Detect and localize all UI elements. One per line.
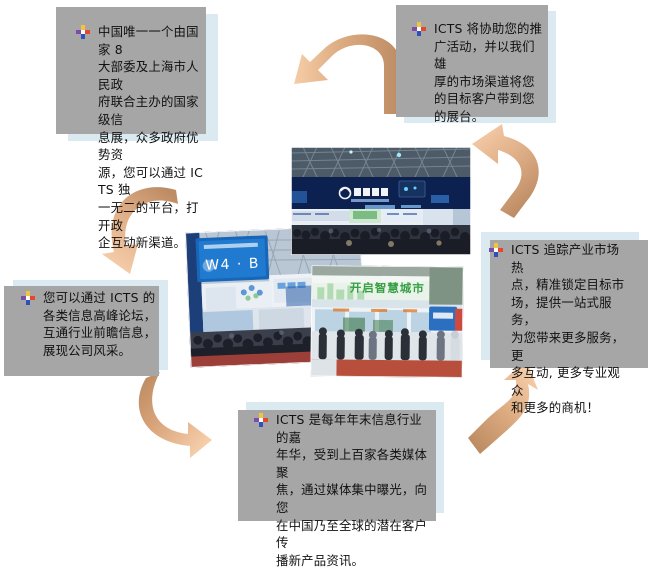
callout-text: 您可以通过 ICTS 的 各类信息高峰论坛， 互通行业前瞻信息， 展现公司风采。	[43, 289, 158, 359]
curved-arrow-icon-right-upper	[462, 118, 574, 236]
callout-text: 中国唯一一个由国家 8 大部委及上海市人民政 府联合主办的国家级信 息展，众多政…	[98, 23, 208, 252]
four-color-pinwheel-icon	[254, 413, 268, 427]
callout-text: ICTS 追踪产业市场热 点，精准锁定目标市 场，提供一站式服务， 为您带来更多…	[511, 241, 629, 417]
callout-text: ICTS 是每年年末信息行业的嘉 年华，受到上百家各类媒体聚 焦，通过媒体集中曝…	[276, 411, 434, 569]
exhibition-photo-smart-city: 开启智慧城市	[310, 265, 463, 378]
callout-left[interactable]: 您可以通过 ICTS 的 各类信息高峰论坛， 互通行业前瞻信息， 展现公司风采。	[13, 280, 168, 370]
callout-top-right[interactable]: ICTS 将协助您的推 广活动，并以我们雄 厚的市场渠道将您 的目标客户带到您 …	[404, 11, 556, 123]
four-color-pinwheel-icon	[76, 25, 90, 39]
callout-bottom[interactable]: ICTS 是每年年末信息行业的嘉 年华，受到上百家各类媒体聚 焦，通过媒体集中曝…	[246, 402, 444, 513]
four-color-pinwheel-icon	[21, 291, 35, 305]
four-color-pinwheel-icon	[489, 243, 503, 257]
callout-top-left[interactable]: 中国唯一一个由国家 8 大部委及上海市人民政 府联合主办的国家级信 息展，众多政…	[68, 14, 218, 141]
svg-text:开启智慧城市: 开启智慧城市	[350, 281, 425, 296]
callout-text: ICTS 将协助您的推 广活动，并以我们雄 厚的市场渠道将您 的目标客户带到您 …	[434, 20, 546, 126]
four-color-pinwheel-icon	[412, 22, 426, 36]
curved-arrow-icon-top	[276, 48, 406, 153]
exhibition-photo-china-telecom	[291, 147, 471, 255]
slide-canvas: W4 · B	[0, 0, 657, 529]
callout-right[interactable]: ICTS 追踪产业市场热 点，精准锁定目标市 场，提供一站式服务， 为您带来更多…	[481, 232, 639, 360]
